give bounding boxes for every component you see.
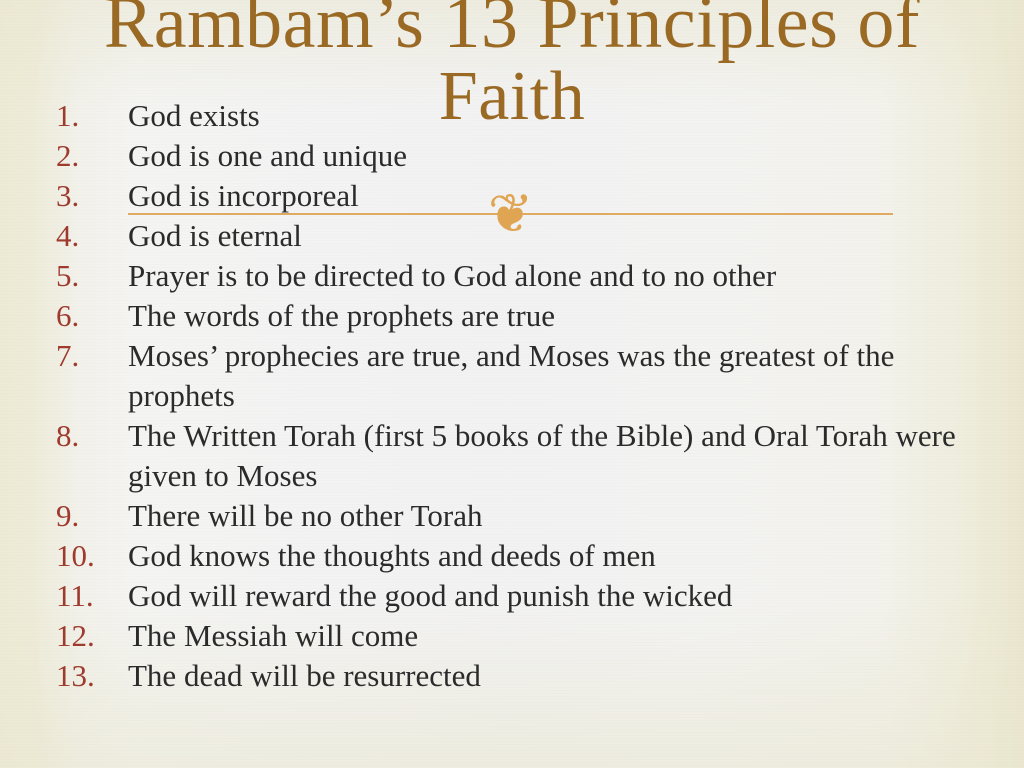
list-item-text: God is one and unique — [128, 136, 986, 176]
list-item: 9.There will be no other Torah — [56, 496, 986, 536]
list-item: 3.God is incorporeal — [56, 176, 986, 216]
list-item-number: 8. — [56, 416, 114, 456]
list-item-number: 1. — [56, 96, 114, 136]
list-item-text: God is eternal — [128, 216, 986, 256]
list-item: 7.Moses’ prophecies are true, and Moses … — [56, 336, 986, 416]
list-item: 1.God exists — [56, 96, 986, 136]
list-item-text: God exists — [128, 96, 986, 136]
list-item: 11.God will reward the good and punish t… — [56, 576, 986, 616]
slide-canvas: Rambam’s 13 Principles of Faith ❦ 1.God … — [0, 0, 1024, 768]
list-item: 6.The words of the prophets are true — [56, 296, 986, 336]
list-item-number: 9. — [56, 496, 114, 536]
page-title-line-1: Rambam’s 13 Principles of — [40, 0, 984, 60]
list-item: 4.God is eternal — [56, 216, 986, 256]
list-item-text: God is incorporeal — [128, 176, 986, 216]
list-item-text: The Messiah will come — [128, 616, 986, 656]
list-item: 2.God is one and unique — [56, 136, 986, 176]
list-item-text: God knows the thoughts and deeds of men — [128, 536, 986, 576]
list-item-text: Prayer is to be directed to God alone an… — [128, 256, 986, 296]
list-item-number: 2. — [56, 136, 114, 176]
list-item-number: 12. — [56, 616, 114, 656]
list-item-text: The Written Torah (first 5 books of the … — [128, 416, 986, 496]
list-item-text: Moses’ prophecies are true, and Moses wa… — [128, 336, 986, 416]
list-item-number: 4. — [56, 216, 114, 256]
list-item: 12.The Messiah will come — [56, 616, 986, 656]
list-item-text: God will reward the good and punish the … — [128, 576, 986, 616]
list-item-number: 7. — [56, 336, 114, 376]
list-item-number: 6. — [56, 296, 114, 336]
list-item: 10.God knows the thoughts and deeds of m… — [56, 536, 986, 576]
list-item-text: The dead will be resurrected — [128, 656, 986, 696]
list-item: 5.Prayer is to be directed to God alone … — [56, 256, 986, 296]
list-item-number: 10. — [56, 536, 114, 576]
principles-list: 1.God exists2.God is one and unique3.God… — [56, 96, 986, 696]
list-item-text: There will be no other Torah — [128, 496, 986, 536]
list-item-number: 3. — [56, 176, 114, 216]
list-item: 13.The dead will be resurrected — [56, 656, 986, 696]
list-item: 8.The Written Torah (first 5 books of th… — [56, 416, 986, 496]
list-item-number: 13. — [56, 656, 114, 696]
list-item-text: The words of the prophets are true — [128, 296, 986, 336]
list-item-number: 11. — [56, 576, 114, 616]
list-item-number: 5. — [56, 256, 114, 296]
